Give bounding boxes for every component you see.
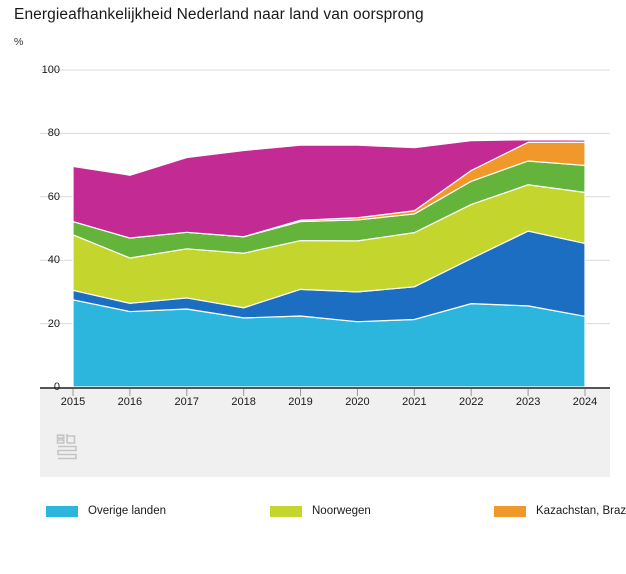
legend-label: Overige landen — [88, 505, 166, 517]
legend-label: Noorwegen — [312, 505, 371, 517]
legend-item[interactable]: Overige landen — [46, 500, 270, 522]
chart-container: Energieafhankelijkheid Nederland naar la… — [0, 0, 626, 574]
x-tick-label: 2016 — [118, 396, 142, 408]
x-tick-label: 2018 — [231, 396, 255, 408]
legend-item[interactable]: Kazachstan, Brazilië, Guyana — [494, 500, 626, 522]
legend-item[interactable]: Noorwegen — [270, 500, 494, 522]
x-tick-label: 2015 — [61, 396, 85, 408]
x-tick-label: 2020 — [345, 396, 369, 408]
x-axis-ticks: 2015201620172018201920202021202220232024 — [0, 0, 626, 574]
x-tick-label: 2023 — [516, 396, 540, 408]
legend: Overige landenNoorwegenKazachstan, Brazi… — [46, 500, 606, 522]
legend-swatch — [494, 506, 526, 517]
legend-label: Kazachstan, Brazilië, Guyana — [536, 505, 626, 517]
legend-swatch — [46, 506, 78, 517]
x-tick-label: 2021 — [402, 396, 426, 408]
x-tick-label: 2019 — [288, 396, 312, 408]
legend-swatch — [270, 506, 302, 517]
x-tick-label: 2017 — [175, 396, 199, 408]
cbs-logo — [55, 432, 81, 462]
x-tick-label: 2024 — [573, 396, 597, 408]
x-tick-label: 2022 — [459, 396, 483, 408]
